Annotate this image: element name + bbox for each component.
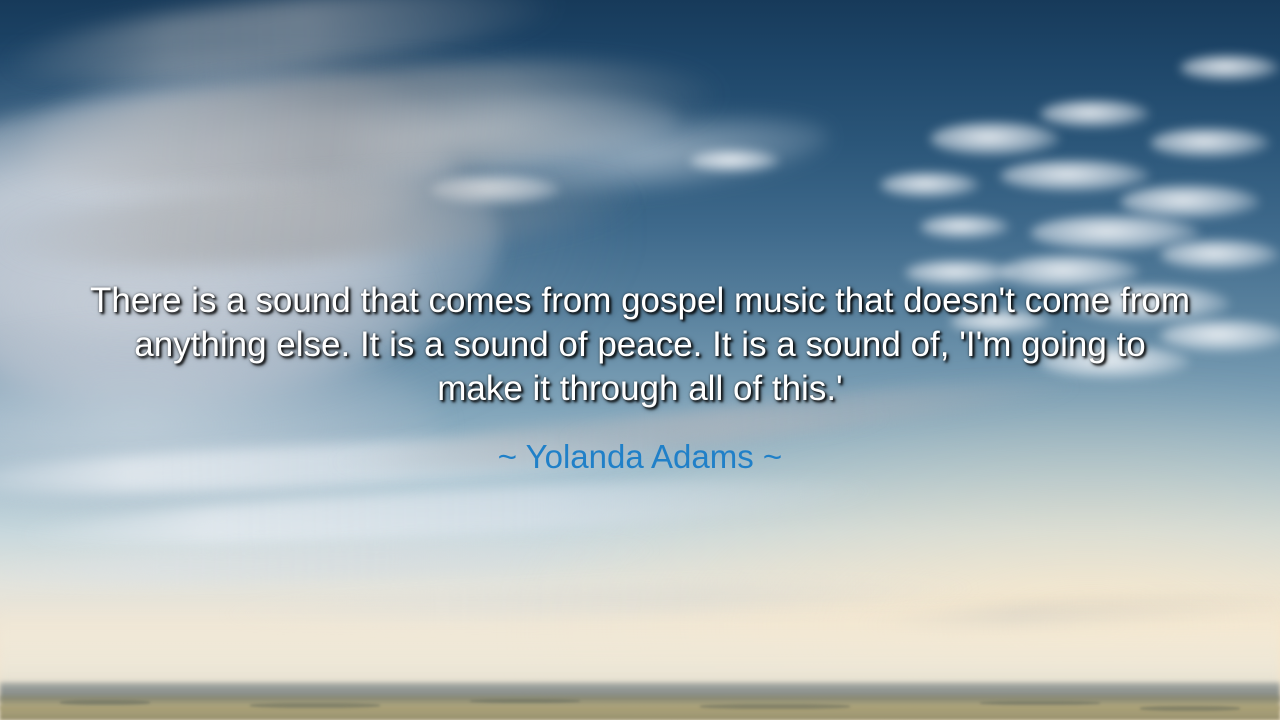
quote-image: There is a sound that comes from gospel … xyxy=(0,0,1280,720)
text-overlay: There is a sound that comes from gospel … xyxy=(0,0,1280,720)
quote-text: There is a sound that comes from gospel … xyxy=(90,279,1190,411)
quote-attribution: ~ Yolanda Adams ~ xyxy=(90,437,1190,477)
